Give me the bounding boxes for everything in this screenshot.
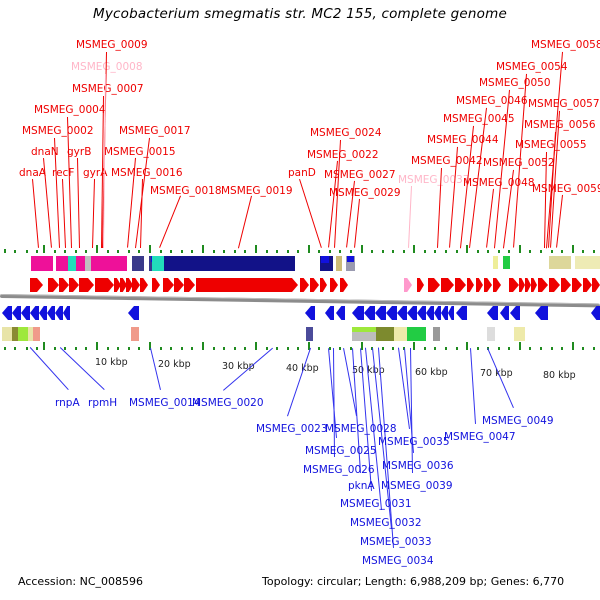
scale-tick bbox=[297, 347, 299, 350]
forward-cds-arrow[interactable] bbox=[79, 278, 94, 292]
feature-box[interactable] bbox=[164, 256, 295, 271]
scale-tick bbox=[424, 347, 426, 350]
leader-line bbox=[43, 158, 52, 248]
gene-label-pand[interactable]: panD bbox=[288, 168, 316, 179]
forward-cds-arrow[interactable] bbox=[320, 278, 327, 292]
leader-line bbox=[32, 179, 39, 248]
scale-tick bbox=[255, 245, 257, 253]
scale-tick bbox=[266, 250, 268, 253]
scale-tick bbox=[498, 250, 500, 253]
scale-tick bbox=[170, 347, 172, 350]
forward-cds-arrow[interactable] bbox=[441, 278, 454, 292]
scale-tick bbox=[181, 250, 183, 253]
feature-box[interactable] bbox=[321, 256, 329, 263]
leader-line bbox=[77, 158, 80, 248]
gene-label-msmeg_0033[interactable]: MSMEG_0033 bbox=[360, 537, 432, 548]
scale-tick bbox=[466, 342, 468, 350]
gene-label-msmeg_0026[interactable]: MSMEG_0026 bbox=[303, 465, 375, 476]
scale-tick bbox=[276, 250, 278, 253]
feature-box[interactable] bbox=[407, 327, 426, 341]
reverse-cds-arrow[interactable] bbox=[305, 306, 315, 320]
feature-box[interactable] bbox=[33, 327, 40, 341]
gene-label-msmeg_0047[interactable]: MSMEG_0047 bbox=[444, 432, 516, 443]
feature-box[interactable] bbox=[514, 327, 525, 341]
feature-box[interactable] bbox=[111, 256, 127, 271]
page-title: Mycobacterium smegmatis str. MC2 155, co… bbox=[0, 6, 600, 22]
scale-tick bbox=[43, 245, 45, 253]
forward-cds-arrow[interactable] bbox=[95, 278, 114, 292]
scale-tick bbox=[561, 250, 563, 253]
genome-map-canvas: Mycobacterium smegmatis str. MC2 155, co… bbox=[0, 0, 600, 600]
scale-tick bbox=[350, 250, 352, 253]
scale-tick bbox=[191, 347, 193, 350]
scale-tick bbox=[128, 250, 130, 253]
scale-tick bbox=[508, 347, 510, 350]
reverse-cds-arrow[interactable] bbox=[535, 306, 548, 320]
gene-label-rpmh[interactable]: rpmH bbox=[88, 398, 117, 409]
gene-label-msmeg_0036[interactable]: MSMEG_0036 bbox=[382, 461, 454, 472]
scale-tick bbox=[318, 250, 320, 253]
scale-tick bbox=[14, 347, 16, 350]
feature-box[interactable] bbox=[91, 256, 111, 271]
reverse-cds-arrow[interactable] bbox=[47, 306, 55, 320]
gene-label-gyrb[interactable]: gyrB bbox=[67, 147, 91, 158]
feature-box[interactable] bbox=[76, 256, 85, 271]
scale-tick bbox=[14, 250, 16, 253]
scale-tick bbox=[297, 250, 299, 253]
scale-tick bbox=[477, 250, 479, 253]
gene-label-msmeg_0049[interactable]: MSMEG_0049 bbox=[482, 416, 554, 427]
reverse-cds-arrow[interactable] bbox=[591, 306, 600, 320]
scale-tick bbox=[529, 347, 531, 350]
reverse-cds-arrow[interactable] bbox=[487, 306, 498, 320]
scale-tick bbox=[445, 250, 447, 253]
scale-tick bbox=[551, 250, 553, 253]
leader-line bbox=[140, 179, 143, 248]
gene-label-msmeg_0019[interactable]: MSMEG_0019 bbox=[221, 186, 293, 197]
forward-cds-arrow[interactable] bbox=[69, 278, 79, 292]
leader-line bbox=[333, 348, 335, 457]
gene-label-msmeg_0014[interactable]: MSMEG_0014 bbox=[129, 398, 201, 409]
feature-box[interactable] bbox=[2, 327, 12, 341]
scale-tick bbox=[508, 250, 510, 253]
gene-label-msmeg_0024[interactable]: MSMEG_0024 bbox=[310, 128, 382, 139]
gene-label-msmeg_0017[interactable]: MSMEG_0017 bbox=[119, 126, 191, 137]
scale-tick bbox=[329, 347, 331, 350]
feature-box[interactable] bbox=[487, 327, 495, 341]
reverse-cds-arrow[interactable] bbox=[352, 306, 364, 320]
gene-label-msmeg_0029[interactable]: MSMEG_0029 bbox=[329, 188, 401, 199]
feature-box[interactable] bbox=[68, 256, 76, 271]
gene-label-msmeg_0025[interactable]: MSMEG_0025 bbox=[305, 446, 377, 457]
forward-cds-arrow[interactable] bbox=[467, 278, 474, 292]
scale-label-10-kbp: 10 kbp bbox=[95, 357, 128, 368]
bottom-scale-tick-row bbox=[0, 340, 600, 350]
gene-label-msmeg_0004[interactable]: MSMEG_0004 bbox=[34, 105, 106, 116]
reverse-cds-arrow[interactable] bbox=[364, 306, 375, 320]
feature-box[interactable] bbox=[336, 256, 342, 271]
forward-cds-arrow[interactable] bbox=[592, 278, 600, 292]
forward-cds-arrow[interactable] bbox=[48, 278, 59, 292]
gene-label-msmeg_0042[interactable]: MSMEG_0042 bbox=[411, 156, 483, 167]
topology-text: Topology: circular; Length: 6,988,209 bp… bbox=[262, 575, 564, 588]
scale-tick bbox=[202, 245, 204, 253]
feature-box[interactable] bbox=[132, 256, 144, 271]
scale-tick bbox=[213, 347, 215, 350]
feature-box[interactable] bbox=[18, 327, 28, 341]
scale-tick bbox=[413, 342, 415, 350]
scale-tick bbox=[170, 250, 172, 253]
reverse-cds-arrow[interactable] bbox=[325, 306, 334, 320]
reverse-cds-arrow[interactable] bbox=[375, 306, 386, 320]
feature-box[interactable] bbox=[394, 327, 407, 341]
scale-tick bbox=[64, 347, 66, 350]
feature-box[interactable] bbox=[347, 256, 354, 262]
scale-label-80-kbp: 80 kbp bbox=[543, 370, 576, 381]
feature-box[interactable] bbox=[31, 256, 53, 271]
reverse-cds-arrow[interactable] bbox=[2, 306, 12, 320]
scale-tick bbox=[4, 347, 6, 350]
feature-box[interactable] bbox=[493, 256, 498, 269]
gene-label-msmeg_0032[interactable]: MSMEG_0032 bbox=[350, 518, 422, 529]
leader-line bbox=[30, 347, 69, 390]
feature-box[interactable] bbox=[352, 327, 376, 332]
scale-tick bbox=[308, 245, 310, 253]
scale-tick bbox=[160, 250, 162, 253]
scale-tick bbox=[361, 245, 363, 253]
scale-tick bbox=[582, 347, 584, 350]
reverse-cds-arrow[interactable] bbox=[448, 306, 454, 320]
leader-line bbox=[408, 186, 412, 248]
scale-tick bbox=[266, 347, 268, 350]
scale-tick bbox=[138, 347, 140, 350]
gene-label-msmeg_0022[interactable]: MSMEG_0022 bbox=[307, 150, 379, 161]
gene-label-msmeg_0057[interactable]: MSMEG_0057 bbox=[528, 99, 600, 110]
reverse-cds-arrow[interactable] bbox=[39, 306, 47, 320]
scale-tick bbox=[213, 250, 215, 253]
scale-tick bbox=[202, 342, 204, 350]
scale-tick bbox=[36, 347, 38, 350]
scale-tick bbox=[466, 245, 468, 253]
reverse-cds-arrow[interactable] bbox=[434, 306, 441, 320]
reverse-cds-arrow[interactable] bbox=[417, 306, 426, 320]
forward-cds-arrow[interactable] bbox=[152, 278, 160, 292]
gene-label-msmeg_0037[interactable]: MSMEG_0037 bbox=[398, 175, 470, 186]
top-scale-tick-row bbox=[0, 243, 600, 253]
gene-label-msmeg_0054[interactable]: MSMEG_0054 bbox=[496, 62, 568, 73]
scale-tick bbox=[26, 347, 28, 350]
forward-cds-arrow[interactable] bbox=[140, 278, 148, 292]
scale-tick bbox=[287, 347, 289, 350]
scale-tick bbox=[4, 249, 6, 253]
scale-tick bbox=[75, 250, 77, 253]
scale-tick bbox=[117, 347, 119, 350]
scale-tick bbox=[107, 347, 109, 350]
scale-tick bbox=[424, 250, 426, 253]
gene-label-msmeg_0055[interactable]: MSMEG_0055 bbox=[515, 140, 587, 151]
gene-label-msmeg_0018[interactable]: MSMEG_0018 bbox=[150, 186, 222, 197]
forward-cds-arrow[interactable] bbox=[196, 278, 298, 292]
scale-tick bbox=[223, 250, 225, 253]
gene-label-msmeg_0016[interactable]: MSMEG_0016 bbox=[111, 168, 183, 179]
scale-tick bbox=[593, 347, 595, 350]
feature-box[interactable] bbox=[433, 327, 440, 341]
genome-axis-line bbox=[0, 294, 600, 307]
leader-line bbox=[556, 195, 563, 248]
reverse-cds-arrow[interactable] bbox=[21, 306, 30, 320]
forward-cds-arrow[interactable] bbox=[59, 278, 69, 292]
scale-tick bbox=[244, 250, 246, 253]
feature-box[interactable] bbox=[131, 327, 139, 341]
reverse-cds-arrow[interactable] bbox=[500, 306, 509, 320]
gene-label-pkna[interactable]: pknA bbox=[348, 481, 375, 492]
scale-tick bbox=[234, 347, 236, 350]
scale-tick bbox=[160, 347, 162, 350]
scale-tick bbox=[392, 347, 394, 350]
gene-label-msmeg_0058[interactable]: MSMEG_0058 bbox=[531, 40, 600, 51]
forward-cds-arrow[interactable] bbox=[114, 278, 121, 292]
scale-tick bbox=[371, 250, 373, 253]
reverse-cds-arrow[interactable] bbox=[386, 306, 397, 320]
leader-line bbox=[299, 179, 322, 248]
scale-tick bbox=[43, 342, 45, 350]
gene-label-msmeg_0039[interactable]: MSMEG_0039 bbox=[381, 481, 453, 492]
scale-tick bbox=[181, 347, 183, 350]
scale-tick bbox=[403, 250, 405, 253]
feature-box[interactable] bbox=[56, 256, 68, 271]
feature-box[interactable] bbox=[575, 256, 600, 269]
leader-line bbox=[354, 199, 360, 248]
scale-tick bbox=[128, 347, 130, 350]
reverse-cds-arrow[interactable] bbox=[407, 306, 417, 320]
forward-cds-arrow[interactable] bbox=[120, 278, 127, 292]
reverse-cds-arrow[interactable] bbox=[12, 306, 21, 320]
scale-tick bbox=[149, 245, 151, 253]
leader-line bbox=[410, 348, 413, 473]
leader-line bbox=[159, 196, 181, 248]
forward-cds-arrow[interactable] bbox=[340, 278, 348, 292]
scale-label-60-kbp: 60 kbp bbox=[415, 367, 448, 378]
scale-tick bbox=[26, 250, 28, 253]
gene-label-msmeg_0020[interactable]: MSMEG_0020 bbox=[192, 398, 264, 409]
scale-tick bbox=[361, 342, 363, 350]
leader-line bbox=[60, 347, 105, 390]
forward-cds-arrow[interactable] bbox=[30, 278, 43, 292]
scale-tick bbox=[593, 250, 595, 253]
forward-cds-arrow[interactable] bbox=[538, 278, 548, 292]
gene-label-msmeg_0028[interactable]: MSMEG_0028 bbox=[325, 424, 397, 435]
scale-tick bbox=[64, 250, 66, 253]
feature-box[interactable] bbox=[549, 256, 571, 269]
scale-tick bbox=[519, 342, 521, 350]
forward-cds-arrow[interactable] bbox=[493, 278, 501, 292]
reverse-cds-arrow[interactable] bbox=[441, 306, 448, 320]
scale-tick bbox=[498, 347, 500, 350]
gene-label-msmeg_0045[interactable]: MSMEG_0045 bbox=[443, 114, 515, 125]
forward-cds-arrow[interactable] bbox=[330, 278, 338, 292]
gene-label-msmeg_0007[interactable]: MSMEG_0007 bbox=[72, 84, 144, 95]
gene-label-msmeg_0050[interactable]: MSMEG_0050 bbox=[479, 78, 551, 89]
forward-cds-arrow[interactable] bbox=[300, 278, 309, 292]
scale-tick bbox=[234, 250, 236, 253]
reverse-cds-arrow[interactable] bbox=[30, 306, 39, 320]
scale-tick bbox=[382, 347, 384, 350]
gene-label-msmeg_0035[interactable]: MSMEG_0035 bbox=[378, 437, 450, 448]
scale-tick bbox=[339, 347, 341, 350]
feature-box[interactable] bbox=[306, 327, 313, 341]
scale-tick bbox=[117, 250, 119, 253]
scale-label-20-kbp: 20 kbp bbox=[158, 359, 191, 370]
accession-text: Accession: NC_008596 bbox=[18, 575, 143, 588]
scale-tick bbox=[96, 342, 98, 350]
scale-tick bbox=[255, 342, 257, 350]
forward-cds-arrow[interactable] bbox=[174, 278, 184, 292]
forward-cds-arrow[interactable] bbox=[525, 278, 531, 292]
gene-label-msmeg_0031[interactable]: MSMEG_0031 bbox=[340, 499, 412, 510]
scale-tick bbox=[456, 347, 458, 350]
reverse-cds-arrow[interactable] bbox=[510, 306, 520, 320]
scale-tick bbox=[434, 347, 436, 350]
gene-label-msmeg_0034[interactable]: MSMEG_0034 bbox=[362, 556, 434, 567]
scale-tick bbox=[244, 347, 246, 350]
scale-tick bbox=[36, 250, 38, 253]
leader-line bbox=[287, 348, 311, 416]
scale-tick bbox=[85, 347, 87, 350]
forward-cds-arrow[interactable] bbox=[519, 278, 525, 292]
scale-tick bbox=[540, 250, 542, 253]
gene-label-msmeg_0015[interactable]: MSMEG_0015 bbox=[104, 147, 176, 158]
scale-tick bbox=[529, 250, 531, 253]
feature-box[interactable] bbox=[503, 256, 510, 269]
gene-label-msmeg_0046[interactable]: MSMEG_0046 bbox=[456, 96, 528, 107]
scale-tick bbox=[572, 245, 574, 253]
scale-tick bbox=[392, 250, 394, 253]
reverse-cds-arrow[interactable] bbox=[63, 306, 70, 320]
scale-tick bbox=[191, 250, 193, 253]
gene-label-rnpa[interactable]: rnpA bbox=[55, 398, 80, 409]
scale-tick bbox=[572, 342, 574, 350]
forward-cds-arrow[interactable] bbox=[417, 278, 424, 292]
scale-tick bbox=[85, 250, 87, 253]
scale-tick bbox=[287, 250, 289, 253]
scale-tick bbox=[329, 250, 331, 253]
scale-tick bbox=[477, 347, 479, 350]
scale-tick bbox=[96, 245, 98, 253]
scale-tick bbox=[413, 245, 415, 253]
scale-tick bbox=[561, 347, 563, 350]
gene-label-msmeg_0059[interactable]: MSMEG_0059 bbox=[532, 184, 600, 195]
gene-label-msmeg_0023[interactable]: MSMEG_0023 bbox=[256, 424, 328, 435]
forward-cds-arrow[interactable] bbox=[549, 278, 560, 292]
scale-tick bbox=[138, 250, 140, 253]
scale-tick bbox=[223, 347, 225, 350]
scale-tick bbox=[318, 347, 320, 350]
forward-cds-arrow[interactable] bbox=[484, 278, 492, 292]
scale-tick bbox=[75, 347, 77, 350]
forward-cds-arrow[interactable] bbox=[455, 278, 466, 292]
gene-label-dnaa[interactable]: dnaA bbox=[19, 168, 46, 179]
scale-tick bbox=[456, 250, 458, 253]
forward-cds-arrow[interactable] bbox=[404, 278, 412, 292]
scale-tick bbox=[540, 347, 542, 350]
reverse-cds-arrow[interactable] bbox=[128, 306, 139, 320]
forward-cds-arrow[interactable] bbox=[184, 278, 195, 292]
gene-label-msmeg_0002[interactable]: MSMEG_0002 bbox=[22, 126, 94, 137]
forward-cds-arrow[interactable] bbox=[561, 278, 571, 292]
feature-box[interactable] bbox=[376, 327, 394, 341]
forward-cds-arrow[interactable] bbox=[583, 278, 592, 292]
reverse-cds-arrow[interactable] bbox=[336, 306, 345, 320]
forward-cds-arrow[interactable] bbox=[132, 278, 140, 292]
forward-cds-arrow[interactable] bbox=[572, 278, 582, 292]
reverse-cds-arrow[interactable] bbox=[55, 306, 63, 320]
scale-tick bbox=[382, 250, 384, 253]
reverse-cds-arrow[interactable] bbox=[426, 306, 434, 320]
leader-line bbox=[92, 179, 95, 248]
leader-line bbox=[238, 196, 252, 248]
forward-cds-arrow[interactable] bbox=[163, 278, 174, 292]
scale-tick bbox=[551, 347, 553, 350]
scale-tick bbox=[487, 250, 489, 253]
gene-label-msmeg_0044[interactable]: MSMEG_0044 bbox=[427, 135, 499, 146]
gene-label-msmeg_0009[interactable]: MSMEG_0009 bbox=[76, 40, 148, 51]
leader-line bbox=[486, 189, 494, 248]
leader-line bbox=[62, 179, 66, 248]
forward-cds-arrow[interactable] bbox=[126, 278, 133, 292]
gene-label-msmeg_0008[interactable]: MSMEG_0008 bbox=[71, 62, 143, 73]
scale-tick bbox=[54, 250, 56, 253]
scale-tick bbox=[107, 250, 109, 253]
forward-cds-arrow[interactable] bbox=[509, 278, 519, 292]
scale-tick bbox=[54, 347, 56, 350]
scale-tick bbox=[339, 250, 341, 253]
gene-label-msmeg_0056[interactable]: MSMEG_0056 bbox=[524, 120, 596, 131]
scale-tick bbox=[445, 347, 447, 350]
leader-line bbox=[470, 348, 476, 424]
forward-cds-arrow[interactable] bbox=[428, 278, 440, 292]
reverse-cds-arrow[interactable] bbox=[397, 306, 407, 320]
scale-tick bbox=[276, 347, 278, 350]
reverse-cds-arrow[interactable] bbox=[456, 306, 467, 320]
scale-tick bbox=[519, 245, 521, 253]
forward-cds-arrow[interactable] bbox=[476, 278, 483, 292]
feature-box[interactable] bbox=[152, 256, 164, 271]
forward-cds-arrow[interactable] bbox=[531, 278, 537, 292]
forward-cds-arrow[interactable] bbox=[310, 278, 319, 292]
scale-tick bbox=[434, 250, 436, 253]
scale-tick bbox=[582, 250, 584, 253]
